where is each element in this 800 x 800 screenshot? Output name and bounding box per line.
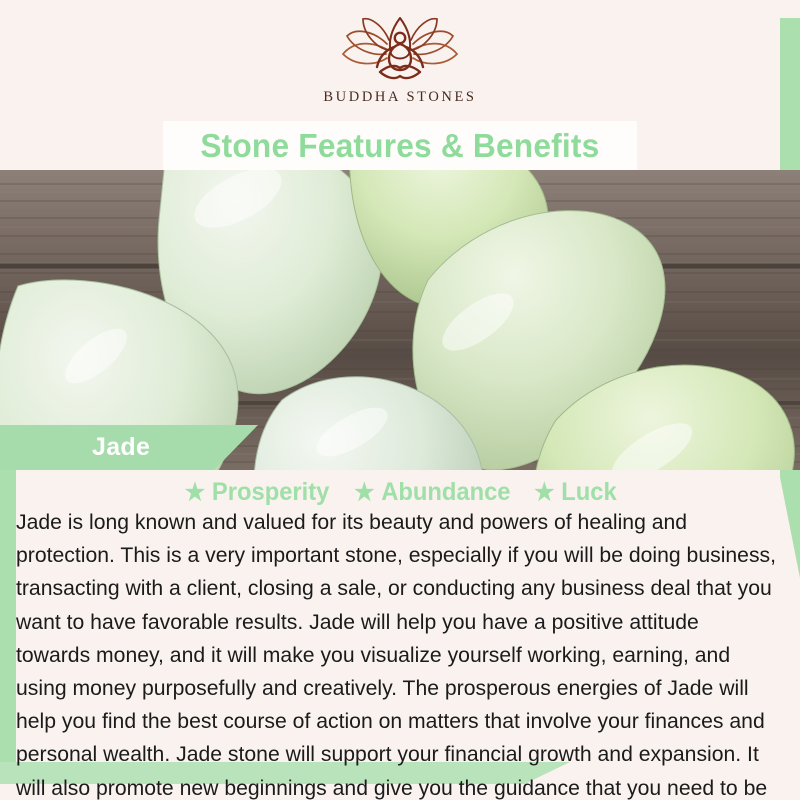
benefit-item: ★ Abundance [354,478,510,507]
benefit-label: Abundance [382,478,511,507]
benefit-label: Luck [561,478,616,507]
stone-name-label: Jade [0,425,258,470]
benefit-item: ★ Prosperity [185,478,330,507]
benefit-item: ★ Luck [534,478,617,507]
star-icon: ★ [354,481,374,505]
page-title: Stone Features & Benefits [200,127,599,165]
stone-description: Jade is long known and valued for its be… [16,506,778,800]
star-icon: ★ [185,481,205,505]
stone-benefits-poster: BUDDHA STONES Stone Features & Benefits [0,0,800,800]
stone-name-text: Jade [92,433,150,462]
benefit-label: Prosperity [212,478,329,507]
benefits-row: ★ Prosperity ★ Abundance ★ Luck [0,478,800,507]
title-banner: Stone Features & Benefits [163,121,637,170]
brand-name: BUDDHA STONES [0,89,800,106]
brand-block: BUDDHA STONES [0,14,800,106]
star-icon: ★ [534,481,554,505]
lotus-meditation-icon [325,14,475,86]
